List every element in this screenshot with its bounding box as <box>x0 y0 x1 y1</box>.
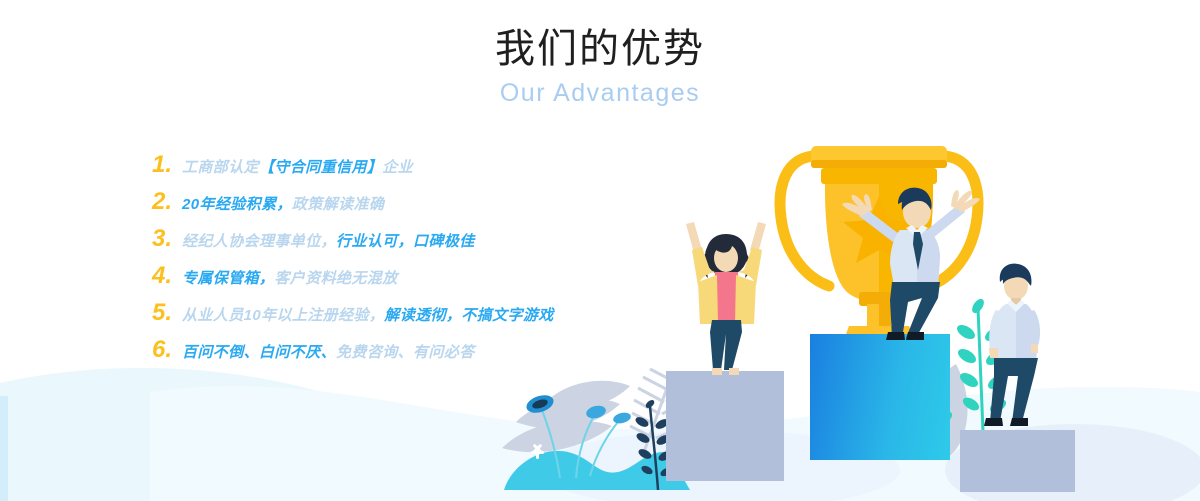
podium-center <box>810 334 950 460</box>
advantage-number: 2. <box>152 187 182 217</box>
advantage-text: 专属保管箱，客户资料绝无混放 <box>182 264 398 294</box>
advantages-banner: 我们的优势 Our Advantages 1.工商部认定【守合同重信用】企业2.… <box>0 0 1200 501</box>
podium-illustration <box>480 100 1200 501</box>
figure-man-standing <box>976 260 1056 432</box>
man-arm-right <box>930 208 962 234</box>
advantage-text-segment: 政策解读准确 <box>292 196 384 213</box>
advantage-item: 2.20年经验积累，政策解读准确 <box>152 187 582 224</box>
advantage-item: 4.专属保管箱，客户资料绝无混放 <box>152 261 582 298</box>
advantage-number: 5. <box>152 298 182 328</box>
advantage-item: 5.从业人员10年以上注册经验，解读透彻，不搞文字游戏 <box>152 298 582 335</box>
header: 我们的优势 Our Advantages <box>0 26 1200 108</box>
dandelion-head-3 <box>612 411 632 425</box>
man-arm-left <box>862 212 896 238</box>
man3-shoe-right <box>1010 418 1028 426</box>
advantage-text-segment: 免费咨询、有问必答 <box>336 344 475 361</box>
advantage-text-segment: 从业人员10年以上注册经验， <box>182 307 384 324</box>
trophy-rim-shadow <box>811 160 947 168</box>
advantage-item: 6.百问不倒、白问不厌、免费咨询、有问必答 <box>152 335 582 372</box>
advantage-number: 6. <box>152 335 182 365</box>
woman-shoe-right <box>729 368 739 375</box>
left-edge-tint <box>0 396 8 501</box>
man-trousers <box>890 282 940 338</box>
advantage-text: 从业人员10年以上注册经验，解读透彻，不搞文字游戏 <box>182 301 554 331</box>
advantage-text: 20年经验积累，政策解读准确 <box>182 190 384 220</box>
figure-woman-cheering <box>672 220 780 375</box>
advantage-text-segment: 百问不倒、白问不厌、 <box>182 344 336 361</box>
advantage-number: 1. <box>152 150 182 180</box>
advantage-text-segment: 解读透彻，不搞文字游戏 <box>384 307 553 324</box>
figure-man-celebrating <box>828 182 988 340</box>
page-title: 我们的优势 <box>0 26 1200 72</box>
man3-hand-right <box>1031 344 1038 353</box>
page-subtitle: Our Advantages <box>0 78 1200 108</box>
advantage-text-segment: 20年经验积累， <box>182 196 292 213</box>
woman-jeans <box>710 320 742 370</box>
advantage-text-segment: 【守合同重信用】 <box>259 159 382 176</box>
woman-shoe-left <box>712 368 722 375</box>
man-hand-left <box>842 194 872 216</box>
advantage-text-segment: 专属保管箱， <box>182 270 274 287</box>
podium-left <box>666 371 784 481</box>
man-shoe-left <box>886 332 905 340</box>
man3-trousers <box>990 358 1038 422</box>
advantage-text: 经纪人协会理事单位，行业认可，口碑极佳 <box>182 227 475 257</box>
advantage-text-segment: 行业认可，口碑极佳 <box>336 233 475 250</box>
advantages-list: 1.工商部认定【守合同重信用】企业2.20年经验积累，政策解读准确3.经纪人协会… <box>152 150 582 372</box>
advantage-text-segment: 客户资料绝无混放 <box>274 270 397 287</box>
man-shoe-right <box>906 332 924 340</box>
advantage-text: 百问不倒、白问不厌、免费咨询、有问必答 <box>182 338 475 368</box>
advantage-number: 4. <box>152 261 182 291</box>
advantage-text-segment: 工商部认定 <box>182 159 259 176</box>
woman-cardigan-body-left <box>698 275 718 324</box>
man3-shoe-left <box>984 418 1003 426</box>
advantage-item: 1.工商部认定【守合同重信用】企业 <box>152 150 582 187</box>
advantage-item: 3.经纪人协会理事单位，行业认可，口碑极佳 <box>152 224 582 261</box>
advantage-text-segment: 企业 <box>382 159 413 176</box>
advantage-text-segment: 经纪人协会理事单位， <box>182 233 336 250</box>
podium-right <box>960 430 1075 492</box>
man3-hand-left <box>989 348 998 358</box>
advantage-text: 工商部认定【守合同重信用】企业 <box>182 153 413 183</box>
woman-cardigan-body-right <box>735 275 756 324</box>
advantage-number: 3. <box>152 224 182 254</box>
